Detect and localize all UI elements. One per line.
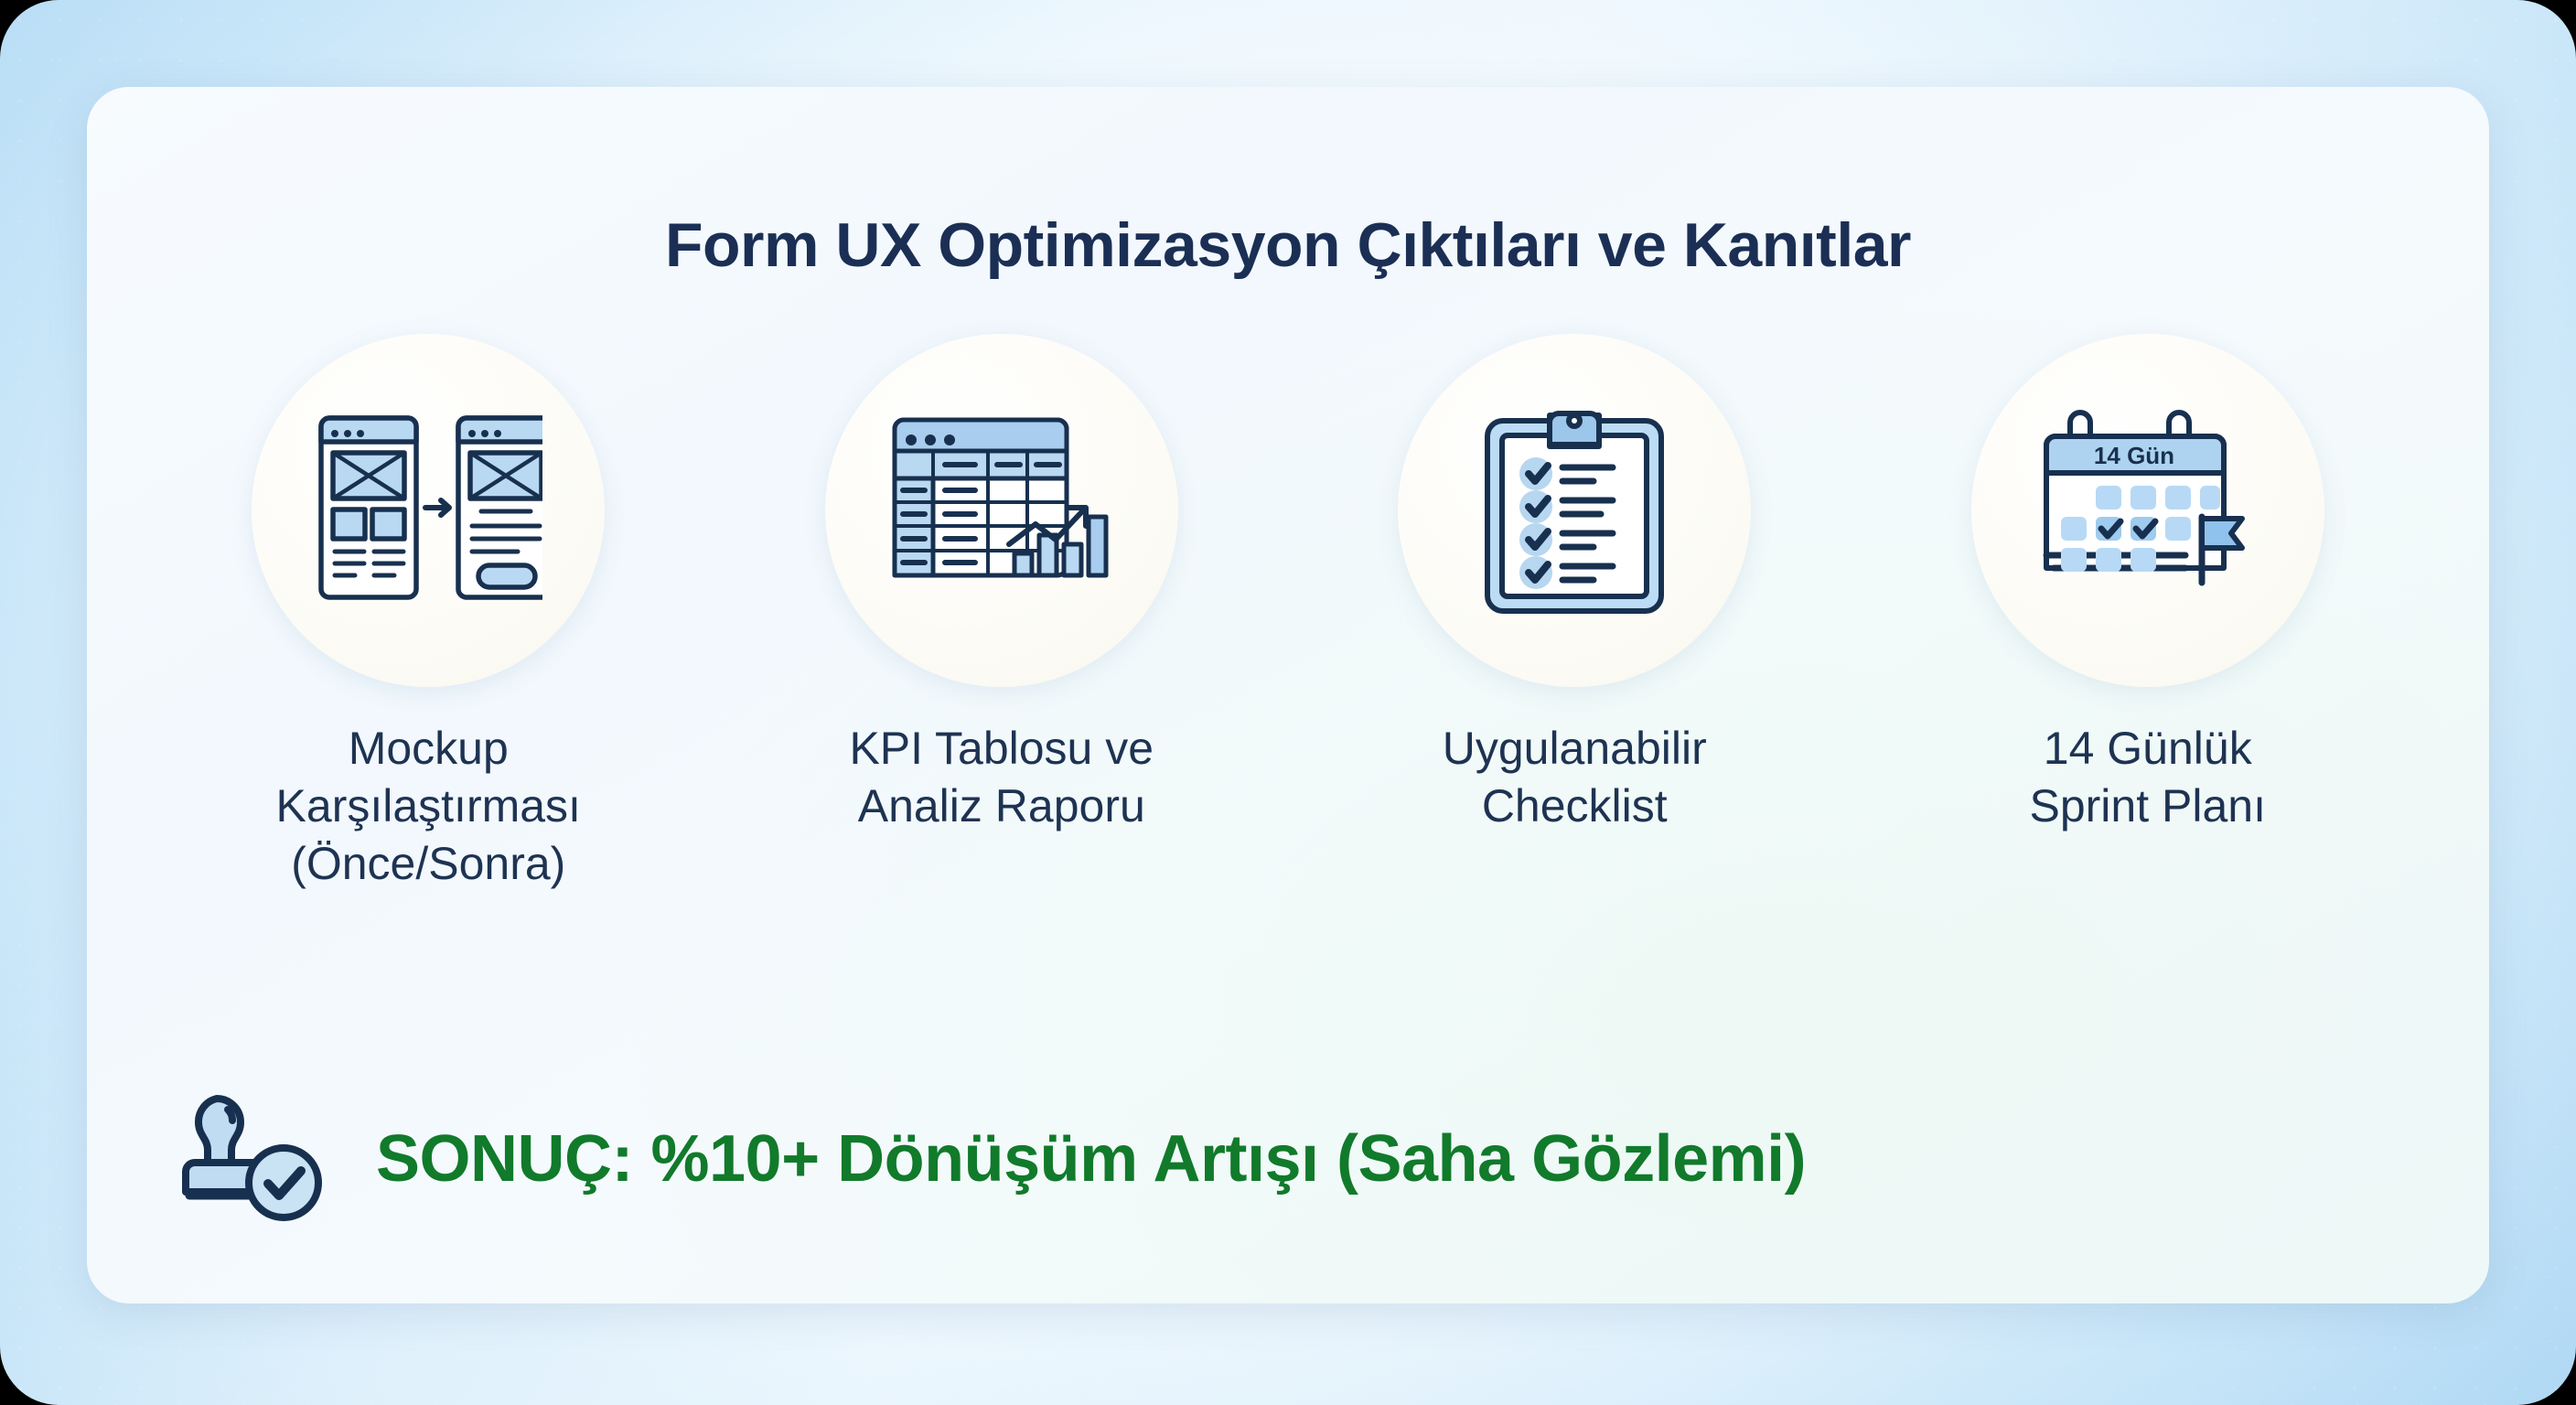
icon-bubble: [252, 334, 605, 687]
infographic-stage: Form UX Optimizasyon Çıktıları ve Kanıtl…: [0, 0, 2576, 1405]
icon-bubble: 14 Gün: [1971, 334, 2324, 687]
page-title: Form UX Optimizasyon Çıktıları ve Kanıtl…: [87, 209, 2489, 281]
mockup-comparison-icon: [314, 405, 542, 616]
deliverable-item-checklist[interactable]: Uygulanabilir Checklist: [1336, 334, 1812, 835]
deliverable-label: Uygulanabilir Checklist: [1443, 720, 1707, 835]
deliverable-item-sprint-calendar[interactable]: 14 Gün 14 Günlük Sprint Planı: [1910, 334, 2386, 835]
approval-stamp-icon: [169, 1086, 325, 1232]
content-card: Form UX Optimizasyon Çıktıları ve Kanıtl…: [87, 87, 2489, 1303]
deliverable-item-kpi-table[interactable]: KPI Tablosu ve Analiz Raporu: [764, 334, 1240, 835]
kpi-table-chart-icon: [887, 405, 1116, 616]
clipboard-checklist-icon: [1478, 401, 1670, 620]
calendar-sprint-icon: 14 Gün: [2034, 405, 2262, 616]
deliverable-label: Mockup Karşılaştırması (Önce/Sonra): [276, 720, 581, 893]
icon-bubble: [825, 334, 1178, 687]
deliverable-item-mockup-comparison[interactable]: Mockup Karşılaştırması (Önce/Sonra): [190, 334, 666, 893]
deliverables-row: Mockup Karşılaştırması (Önce/Sonra): [142, 334, 2434, 893]
icon-bubble: [1398, 334, 1751, 687]
deliverable-label: 14 Günlük Sprint Planı: [2030, 720, 2266, 835]
result-banner: SONUÇ: %10+ Dönüşüm Artışı (Saha Gözlemi…: [169, 1086, 1806, 1232]
result-text: SONUÇ: %10+ Dönüşüm Artışı (Saha Gözlemi…: [376, 1121, 1806, 1196]
deliverable-label: KPI Tablosu ve Analiz Raporu: [849, 720, 1154, 835]
calendar-header-text: 14 Gün: [2094, 442, 2174, 469]
